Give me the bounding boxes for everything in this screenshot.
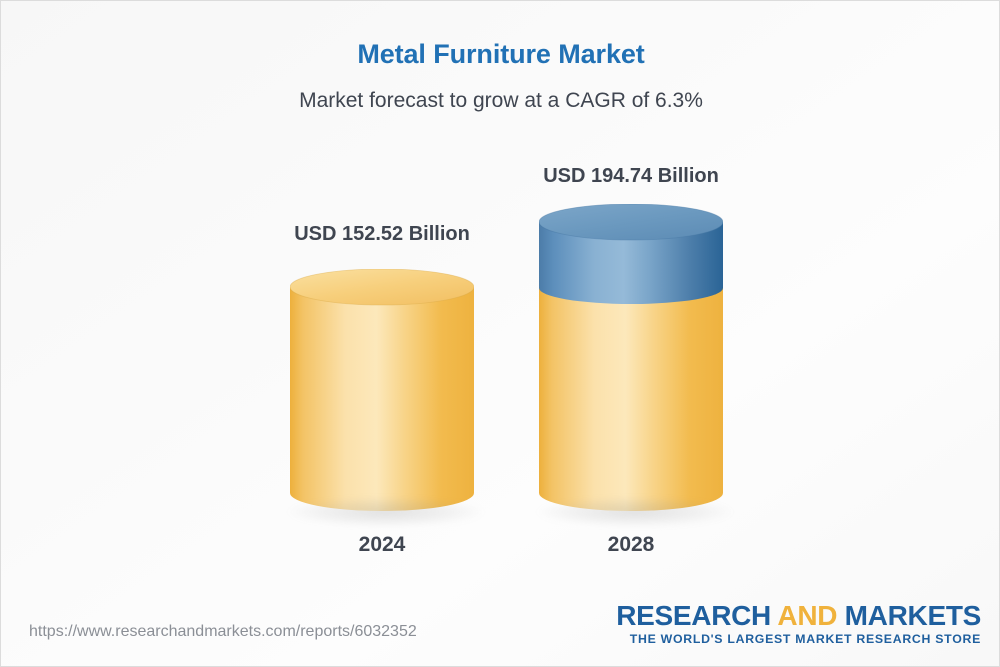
data-label-2024: USD 152.52 Billion [212, 223, 552, 246]
plot-area: USD 152.52 Billion [1, 1, 1000, 601]
cylinder-2024 [290, 269, 474, 527]
data-label-2028: USD 194.74 Billion [461, 165, 801, 188]
bar-shadow [537, 497, 733, 527]
cylinder-2028 [539, 204, 723, 527]
logo-and-text: AND [777, 600, 837, 631]
chart-canvas: Metal Furniture Market Market forecast t… [0, 0, 1000, 667]
bar-shadow [288, 497, 484, 527]
category-label-2028: 2028 [539, 533, 723, 557]
logo-tagline: THE WORLD'S LARGEST MARKET RESEARCH STOR… [616, 632, 981, 646]
bar-2028[interactable] [539, 204, 723, 532]
bar-2024[interactable] [290, 269, 474, 532]
source-url[interactable]: https://www.researchandmarkets.com/repor… [29, 623, 417, 641]
logo-wordmark: RESEARCH AND MARKETS [616, 601, 981, 630]
research-and-markets-logo[interactable]: RESEARCH AND MARKETS THE WORLD'S LARGEST… [616, 601, 981, 646]
category-label-2024: 2024 [290, 533, 474, 557]
logo-research-text: RESEARCH [616, 600, 777, 631]
logo-markets-text: MARKETS [837, 600, 981, 631]
